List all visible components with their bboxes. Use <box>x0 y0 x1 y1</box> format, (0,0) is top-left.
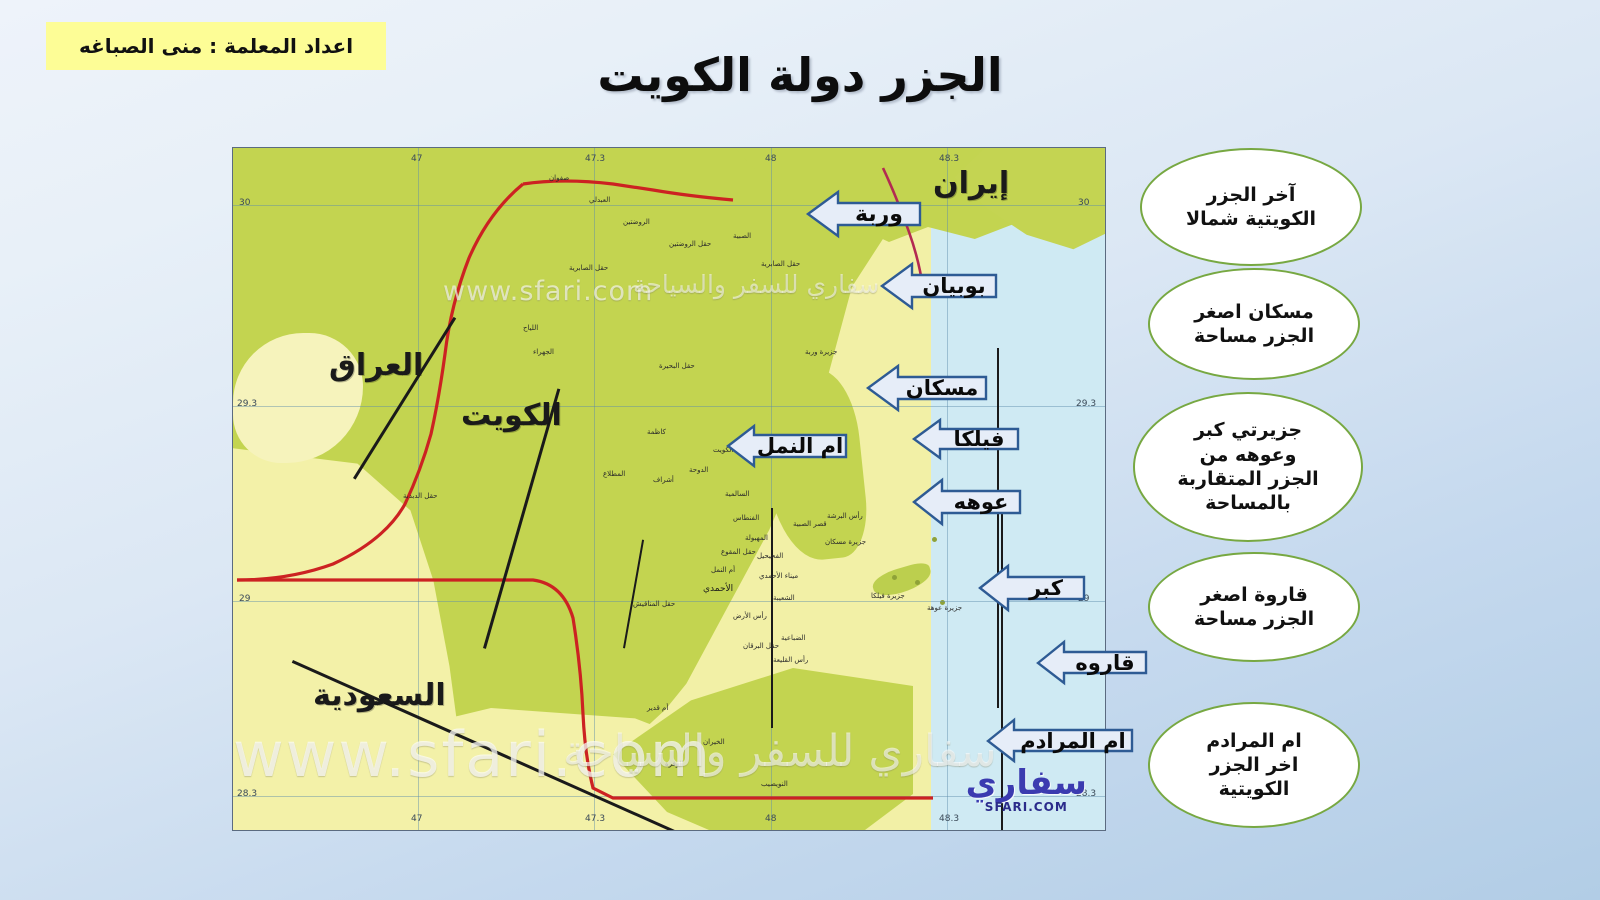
map-place-label: ميناء الأحمدي <box>759 572 798 580</box>
coord-right-1: 29.3 <box>1076 399 1096 409</box>
note-line: مسكان اصغر <box>1194 300 1314 324</box>
arrow-left-icon <box>866 364 988 412</box>
arrow-left-icon <box>1036 640 1148 686</box>
note-northernmost-text: آخر الجزر الكويتية شمالا <box>1174 183 1328 232</box>
map-place-label: رأس الأرض <box>733 612 767 620</box>
map-place-label: حقل الروضتين <box>669 240 711 248</box>
note-line: الجزر مساحة <box>1194 324 1314 348</box>
coord-left-1: 29.3 <box>237 399 257 409</box>
map-place-label: حقل المقوع <box>721 548 756 556</box>
coord-bottom-1: 47.3 <box>585 814 605 824</box>
note-qaruh-smallest-text: قاروة اصغر الجزر مساحة <box>1182 583 1326 632</box>
arrow-left-icon <box>912 418 1020 460</box>
map-label-saudi: السعودية <box>313 678 446 713</box>
arrow-left-icon <box>986 718 1134 764</box>
map-place-label: الشعيبة <box>773 594 795 602</box>
map-place-label: قصر الصبية <box>793 520 827 528</box>
map-place-label: الضباعية <box>781 634 805 642</box>
map-place-label: المهبولة <box>745 534 768 542</box>
coord-bottom-0: 47 <box>411 814 422 824</box>
callout-umm-al-maradim[interactable]: ام المرادم <box>986 718 1134 764</box>
page-title-text: الجزر دولة الكويت <box>597 48 1002 102</box>
note-line: الكويتية <box>1206 777 1301 801</box>
note-line: ام المرادم <box>1206 729 1301 753</box>
note-line: اخر الجزر <box>1206 753 1301 777</box>
map-place-label: الجهراء <box>533 348 554 356</box>
arrow-left-icon <box>978 564 1086 612</box>
note-umm-al-maradim-text: ام المرادم اخر الجزر الكويتية <box>1194 729 1313 802</box>
map-place-label: جزيرة وربة <box>805 348 837 356</box>
grid-line-30 <box>233 205 1105 206</box>
coord-bottom-3: 48.3 <box>939 814 959 824</box>
map-place-label: أشراف <box>653 476 674 484</box>
arrow-left-icon <box>806 190 922 238</box>
map-place-label: رأس البرشة <box>827 512 863 520</box>
map-place-label: جزيرة فيلكا <box>871 592 905 600</box>
map-place-label: حقل الصابرية <box>761 260 800 268</box>
note-line: وعوهه من <box>1177 443 1318 467</box>
coord-bottom-2: 48 <box>765 814 776 824</box>
callout-miskan[interactable]: مسكان <box>866 364 988 412</box>
map-place-label: صفوان <box>549 174 569 182</box>
note-line: الجزر مساحة <box>1194 607 1314 631</box>
island-failaka-dot-2 <box>915 580 920 585</box>
callout-warbah[interactable]: وربة <box>806 190 922 238</box>
map-label-kuwait: الكويت <box>461 398 562 433</box>
note-line: بالمساحة <box>1177 491 1318 515</box>
coord-left-0: 30 <box>239 198 250 208</box>
map-place-label: الروضتين <box>623 218 650 226</box>
sfari-logo-arabic: سفاري <box>966 766 1087 800</box>
coord-top-0: 47 <box>411 154 422 164</box>
map-place-label: حقل الصابرية <box>569 264 608 272</box>
coord-left-2: 29 <box>239 594 250 604</box>
map-label-iraq: العراق <box>329 348 423 383</box>
map-place-label: السالمية <box>725 490 750 498</box>
map-place-label: اللياح <box>523 324 538 332</box>
map-place-label: جزيرة مسكان <box>825 538 866 546</box>
map-place-label: رأس القليعة <box>773 656 808 664</box>
coord-top-2: 48 <box>765 154 776 164</box>
grid-line-47 <box>418 148 419 830</box>
page-title: الجزر دولة الكويت <box>0 48 1600 102</box>
island-miskan-dot <box>932 537 937 542</box>
callout-kubbar[interactable]: كبر <box>978 564 1086 612</box>
arrow-left-icon <box>880 262 998 310</box>
map-place-label: حقل البحيرة <box>659 362 695 370</box>
map-place-label: حقل المناقيش <box>633 600 675 608</box>
note-line: آخر الجزر <box>1186 183 1316 207</box>
sfari-logo: سفاري SFARI.COM <box>966 766 1087 814</box>
note-qaruh-smallest[interactable]: قاروة اصغر الجزر مساحة <box>1148 552 1360 662</box>
map-place-label: أم قدير <box>647 704 668 712</box>
callout-auhah[interactable]: عوهه <box>912 478 1022 526</box>
map-place-label: الخيران <box>703 738 725 746</box>
coord-right-0: 30 <box>1078 198 1089 208</box>
map-place-label: النويصيب <box>761 780 788 788</box>
map-place-label: حقل البرقان <box>743 642 779 650</box>
map-place-label: الفنطاس <box>733 514 759 522</box>
island-failaka-town-dot <box>892 575 897 580</box>
map-place-label: الأحمدي <box>703 584 733 594</box>
map-place-label: أم النمل <box>711 566 735 574</box>
note-line: قاروة اصغر <box>1194 583 1314 607</box>
coord-left-3: 28.3 <box>237 789 257 799</box>
map-place-label: المطلاع <box>603 470 625 478</box>
note-northernmost[interactable]: آخر الجزر الكويتية شمالا <box>1140 148 1362 266</box>
callout-failaka[interactable]: فيلكا <box>912 418 1020 460</box>
map-place-label: الصبية <box>733 232 751 240</box>
arrow-left-icon <box>912 478 1022 526</box>
leader-line-kubbar-pointer <box>771 508 773 728</box>
callout-bubiyan[interactable]: بوبيان <box>880 262 998 310</box>
map-place-label: الوفرة <box>665 760 684 768</box>
map-place-label: العبدلي <box>589 196 610 204</box>
note-kubbar-auhah-text: جزيرتي كبر وعوهه من الجزر المتقاربة بالم… <box>1165 418 1330 515</box>
leader-line-east-axis <box>997 348 999 708</box>
grid-line-47-3 <box>594 148 595 830</box>
note-miskan-smallest-text: مسكان اصغر الجزر مساحة <box>1182 300 1326 349</box>
map-place-label: حقل الدبدبة <box>403 492 437 500</box>
note-line: الكويتية شمالا <box>1186 207 1316 231</box>
note-line: جزيرتي كبر <box>1177 418 1318 442</box>
callout-umm-al-namil[interactable]: ام النمل <box>726 424 848 468</box>
map-place-label: جزيرة عوهة <box>927 604 962 612</box>
map-label-iran: إيران <box>933 166 1009 201</box>
map-place-label: الدوحة <box>689 466 708 474</box>
note-umm-al-maradim[interactable]: ام المرادم اخر الجزر الكويتية <box>1148 702 1360 828</box>
coord-top-1: 47.3 <box>585 154 605 164</box>
callout-qaruh[interactable]: قاروه <box>1036 640 1148 686</box>
note-kubbar-auhah[interactable]: جزيرتي كبر وعوهه من الجزر المتقاربة بالم… <box>1133 392 1363 542</box>
note-miskan-smallest[interactable]: مسكان اصغر الجزر مساحة <box>1148 268 1360 380</box>
note-line: الجزر المتقاربة <box>1177 467 1318 491</box>
map-place-label: كاظمة <box>647 428 666 436</box>
map-place-label: الفحيحيل <box>757 552 783 560</box>
arrow-left-icon <box>726 424 848 468</box>
coord-top-3: 48.3 <box>939 154 959 164</box>
